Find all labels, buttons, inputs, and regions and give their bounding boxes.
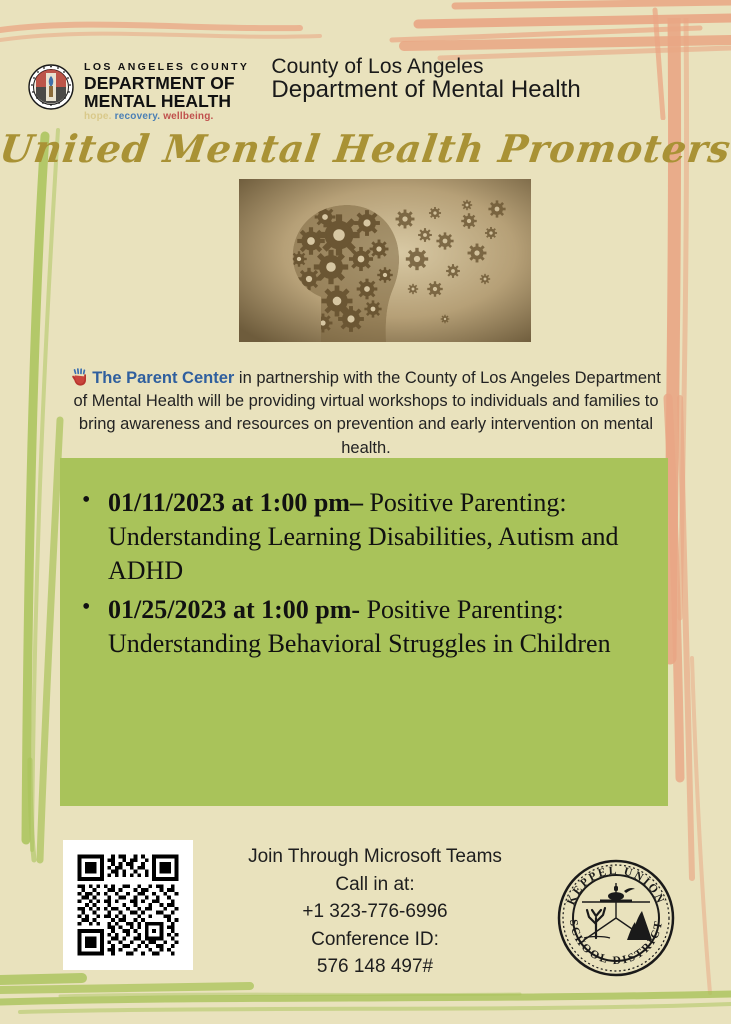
- gears-head-image: [239, 179, 531, 342]
- session-datetime: 01/11/2023 at 1:00 pm: [108, 488, 350, 517]
- contact-callin-label: Call in at:: [185, 871, 565, 899]
- keppel-union-school-district-seal-icon: KEPPEL UNION SCHOOL DISTRICT: [556, 858, 676, 978]
- page-title: United Mental Health Promoters: [0, 126, 731, 171]
- dmh-wordmark: LOS ANGELES COUNTY DEPARTMENT OF MENTAL …: [84, 62, 249, 122]
- intro-paragraph: The Parent Center in partnership with th…: [68, 367, 664, 461]
- seal-bottom-text: SCHOOL DISTRICT: [567, 919, 665, 967]
- sessions-panel: 01/11/2023 at 1:00 pm– Positive Parentin…: [60, 458, 668, 806]
- county-line-1: County of Los Angeles: [271, 56, 581, 77]
- session-dash: –: [350, 488, 370, 517]
- contact-block: Join Through Microsoft Teams Call in at:…: [185, 843, 565, 981]
- flyer-poster: LOS ANGELES COUNTY DEPARTMENT OF MENTAL …: [0, 0, 731, 1024]
- handprint-icon: [71, 368, 90, 387]
- list-item: 01/25/2023 at 1:00 pm- Positive Parentin…: [108, 593, 644, 661]
- list-item: 01/11/2023 at 1:00 pm– Positive Parentin…: [108, 486, 644, 587]
- tagline-wellbeing: wellbeing.: [163, 111, 213, 122]
- qr-code[interactable]: [63, 840, 193, 970]
- county-department-heading: County of Los Angeles Department of Ment…: [271, 56, 581, 103]
- sessions-list: 01/11/2023 at 1:00 pm– Positive Parentin…: [60, 458, 668, 661]
- contact-join-line: Join Through Microsoft Teams: [185, 843, 565, 871]
- contact-phone[interactable]: +1 323-776-6996: [185, 898, 565, 926]
- session-dash: -: [351, 595, 366, 624]
- dmh-name-line-2: MENTAL HEALTH: [84, 92, 249, 110]
- tagline-recovery: recovery.: [115, 111, 161, 122]
- dmh-name-line-1: DEPARTMENT OF: [84, 74, 249, 92]
- svg-text:SCHOOL DISTRICT: SCHOOL DISTRICT: [567, 919, 665, 967]
- dmh-tagline: hope. recovery. wellbeing.: [84, 112, 249, 122]
- tagline-hope: hope.: [84, 111, 112, 122]
- parent-center-label: The Parent Center: [92, 369, 234, 387]
- contact-conference-label: Conference ID:: [185, 926, 565, 954]
- los-angeles-county-seal-icon: [28, 64, 74, 110]
- session-datetime: 01/25/2023 at 1:00 pm: [108, 595, 351, 624]
- county-line-2: Department of Mental Health: [271, 77, 581, 103]
- contact-conference-id: 576 148 497#: [185, 953, 565, 981]
- dmh-county-line: LOS ANGELES COUNTY: [84, 62, 249, 73]
- header: LOS ANGELES COUNTY DEPARTMENT OF MENTAL …: [28, 58, 581, 122]
